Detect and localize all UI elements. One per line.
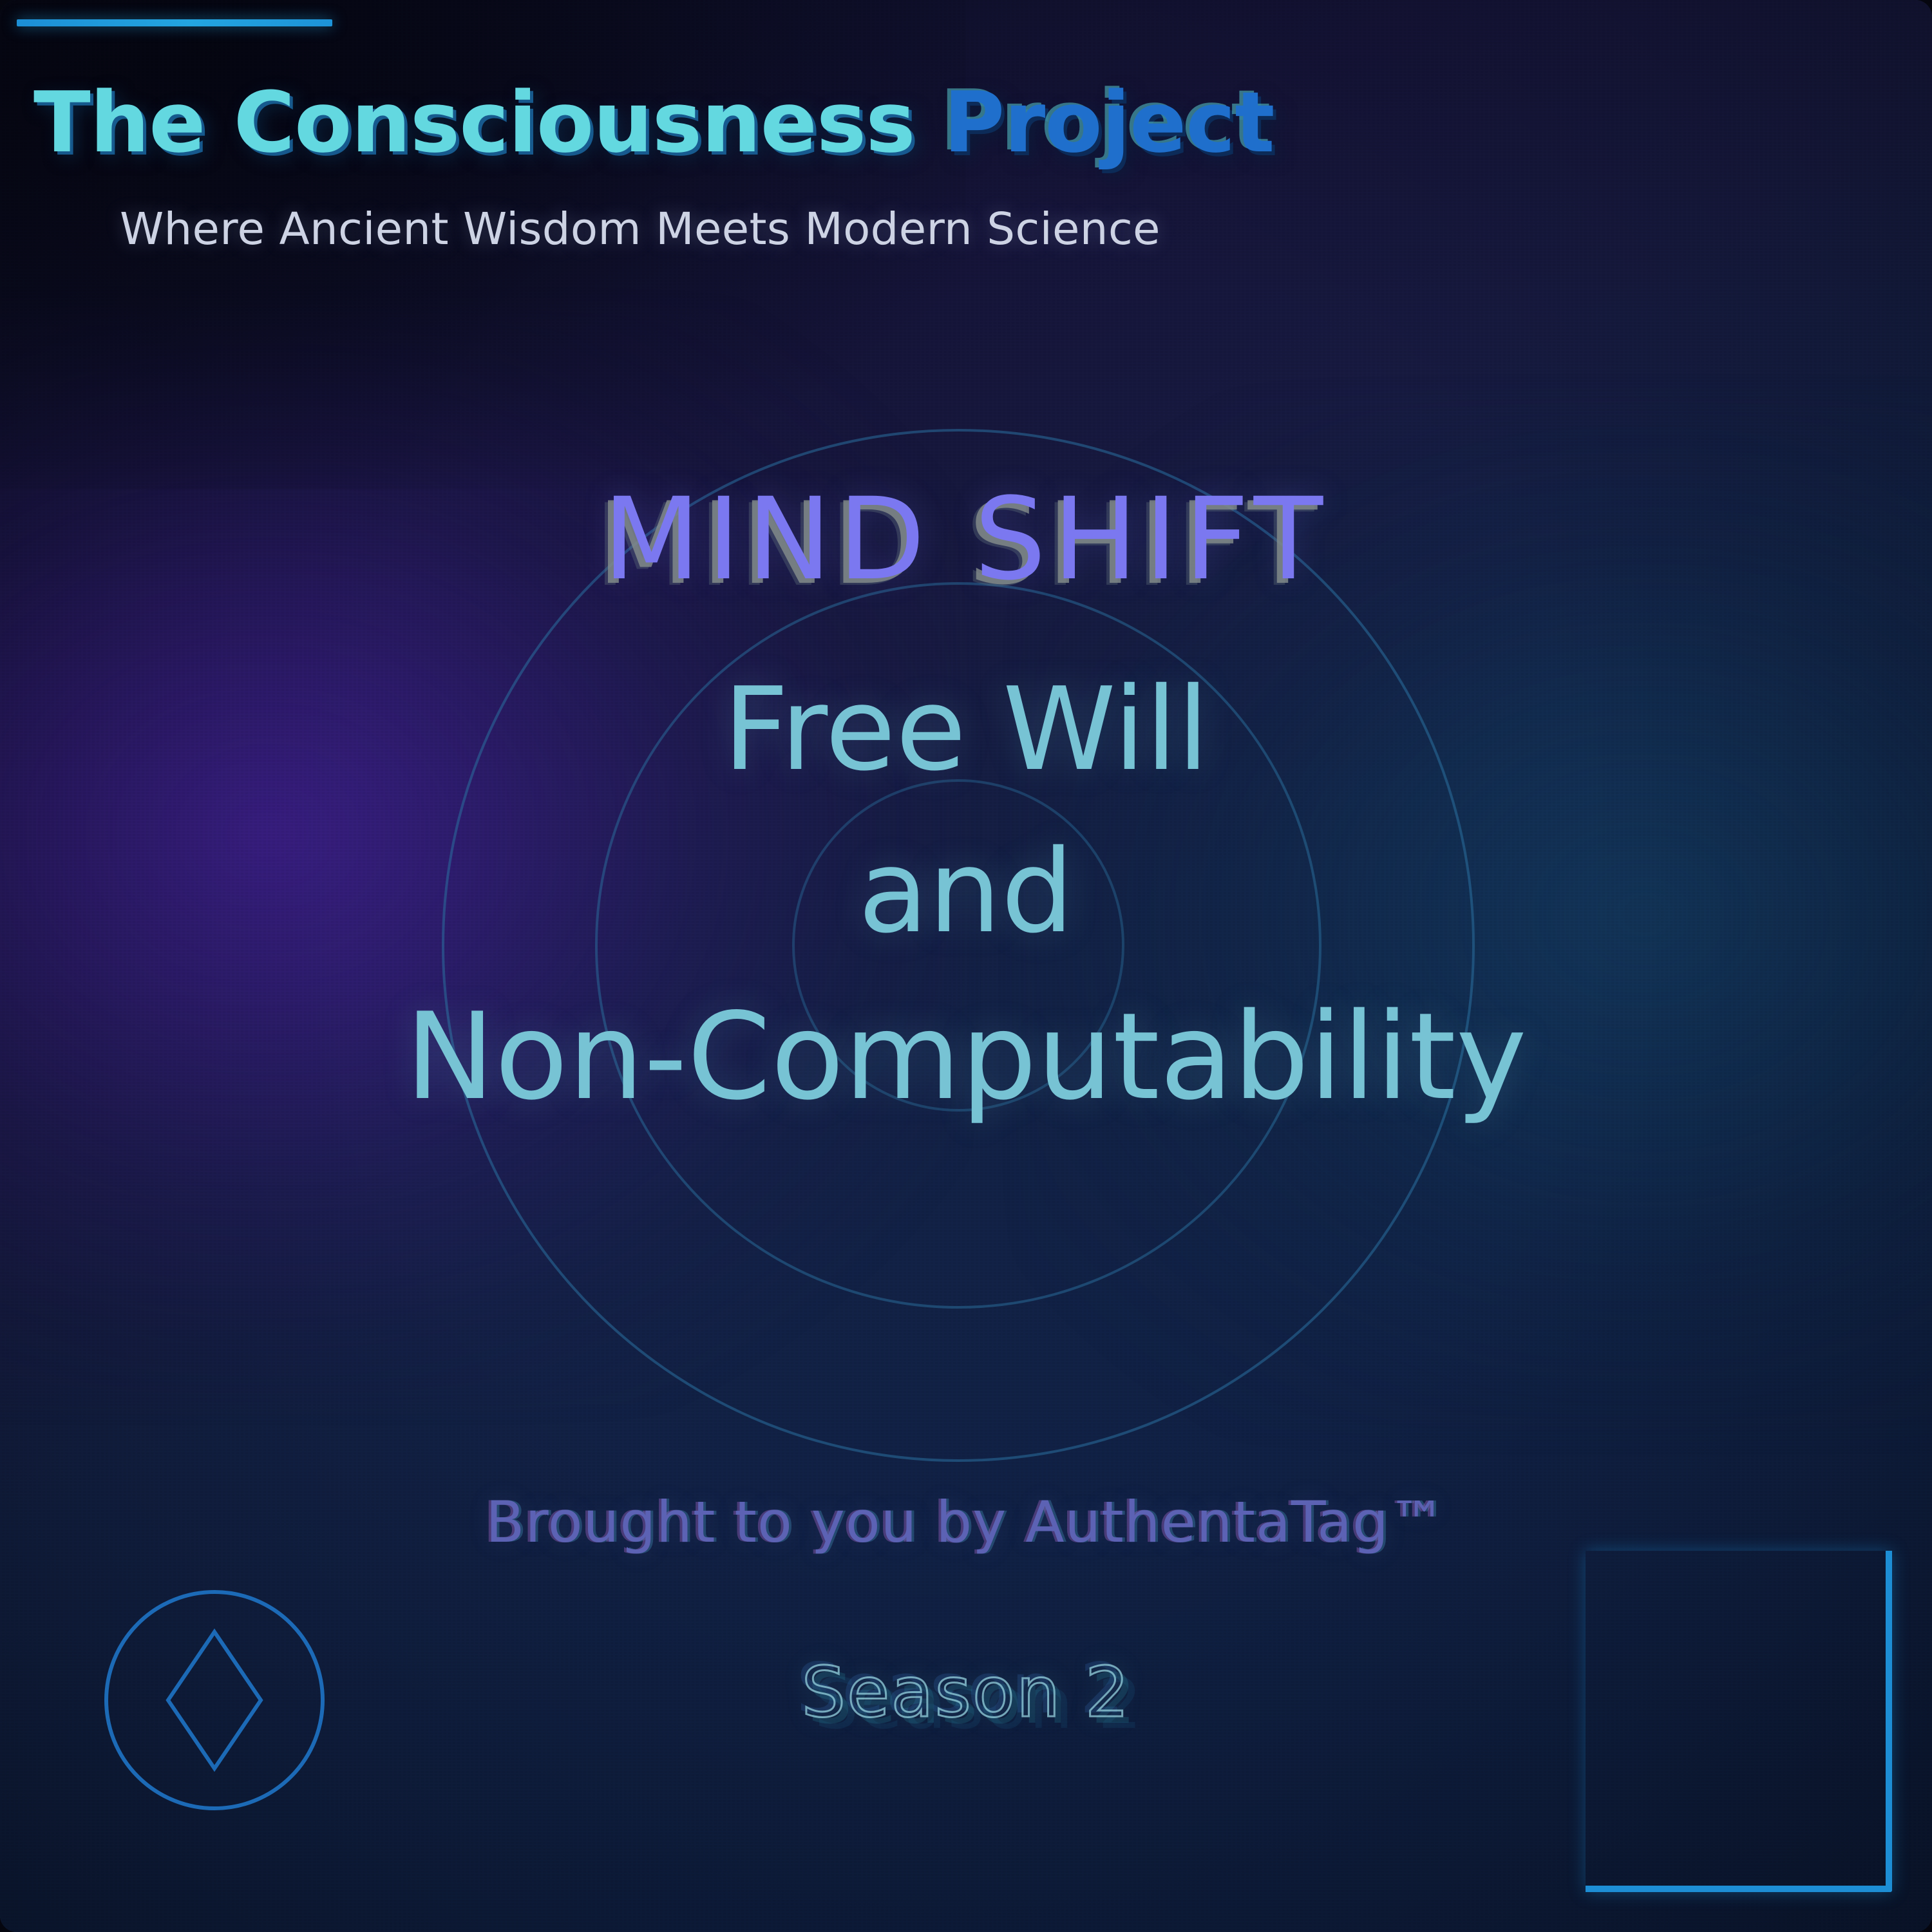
- brandmark-circle: [106, 1592, 323, 1808]
- brandmark-diamond: [168, 1632, 261, 1768]
- episode-title-line-2: and: [0, 835, 1932, 949]
- podcast-cover-canvas: The Consciousness Project Where Ancient …: [0, 0, 1932, 1932]
- series-label: MIND SHIFT: [0, 483, 1932, 596]
- show-title-primary: The Consciousness: [33, 73, 915, 171]
- show-title: The Consciousness Project: [33, 77, 1274, 167]
- circle-diamond-icon: [100, 1586, 329, 1815]
- show-tagline: Where Ancient Wisdom Meets Modern Scienc…: [120, 204, 1160, 255]
- episode-title-line-1: Free Will: [0, 672, 1932, 787]
- header-accent-rule: [17, 19, 332, 26]
- episode-title-line-3: Non-Computability: [0, 997, 1932, 1117]
- sponsor-credit: Brought to you by AuthentaTag™: [0, 1489, 1932, 1555]
- episode-content-stack: MIND SHIFT Free Will and Non-Computabili…: [0, 483, 1932, 1117]
- corner-bracket-decoration: [1586, 1551, 1892, 1892]
- show-title-secondary: Project: [943, 73, 1274, 171]
